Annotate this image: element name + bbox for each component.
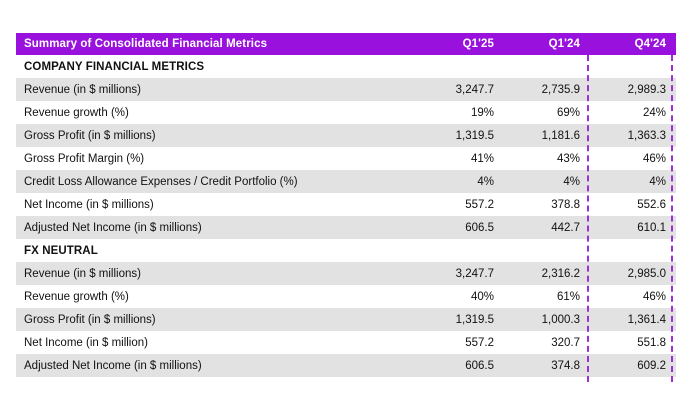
- row-label-gross-profit-in-millions: Gross Profit (in $ millions): [16, 308, 418, 331]
- row-label-revenue-growth: Revenue growth (%): [16, 285, 418, 308]
- cell-q1-24-gross-profit-in-millions: 1,181.6: [504, 124, 590, 147]
- cell-q1-24-revenue-in-millions: 2,316.2: [504, 262, 590, 285]
- column-header-q4-24: Q4'24: [590, 33, 676, 55]
- row-label-net-income-in-million: Net Income (in $ million): [16, 331, 418, 354]
- table-row: Adjusted Net Income (in $ millions)606.5…: [16, 216, 676, 239]
- section-title-fx-neutral: FX NEUTRAL: [16, 239, 676, 262]
- cell-q4-24-revenue-in-millions: 2,985.0: [590, 262, 676, 285]
- cell-q4-24-net-income-in-millions: 552.6: [590, 193, 676, 216]
- cell-q4-24-adjusted-net-income-in-millions: 610.1: [590, 216, 676, 239]
- table-header: Summary of Consolidated Financial Metric…: [16, 33, 676, 55]
- financial-metrics-table-container: Summary of Consolidated Financial Metric…: [16, 33, 676, 377]
- cell-q1-25-net-income-in-millions: 557.2: [418, 193, 504, 216]
- table-row: Gross Profit Margin (%)41%43%46%: [16, 147, 676, 170]
- table-row: Net Income (in $ million)557.2320.7551.8: [16, 331, 676, 354]
- row-label-adjusted-net-income-in-millions: Adjusted Net Income (in $ millions): [16, 216, 418, 239]
- cell-q4-24-gross-profit-in-millions: 1,361.4: [590, 308, 676, 331]
- row-label-gross-profit-in-millions: Gross Profit (in $ millions): [16, 124, 418, 147]
- cell-q1-25-gross-profit-in-millions: 1,319.5: [418, 308, 504, 331]
- table-row: Adjusted Net Income (in $ millions)606.5…: [16, 354, 676, 377]
- table-row: Net Income (in $ millions)557.2378.8552.…: [16, 193, 676, 216]
- cell-q1-25-revenue-growth: 40%: [418, 285, 504, 308]
- cell-q1-24-gross-profit-margin: 43%: [504, 147, 590, 170]
- table-title: Summary of Consolidated Financial Metric…: [16, 33, 418, 55]
- cell-q1-25-revenue-in-millions: 3,247.7: [418, 262, 504, 285]
- table-body: COMPANY FINANCIAL METRICSRevenue (in $ m…: [16, 55, 676, 377]
- row-label-credit-loss-allowance-expenses-credit-portfolio: Credit Loss Allowance Expenses / Credit …: [16, 170, 418, 193]
- table-row: Revenue growth (%)40%61%46%: [16, 285, 676, 308]
- cell-q1-25-revenue-growth: 19%: [418, 101, 504, 124]
- cell-q4-24-gross-profit-margin: 46%: [590, 147, 676, 170]
- section-header-row: FX NEUTRAL: [16, 239, 676, 262]
- cell-q4-24-gross-profit-in-millions: 1,363.3: [590, 124, 676, 147]
- cell-q4-24-credit-loss-allowance-expenses-credit-portfolio: 4%: [590, 170, 676, 193]
- cell-q1-24-adjusted-net-income-in-millions: 442.7: [504, 216, 590, 239]
- cell-q4-24-adjusted-net-income-in-millions: 609.2: [590, 354, 676, 377]
- cell-q1-25-gross-profit-margin: 41%: [418, 147, 504, 170]
- column-header-q1-25: Q1'25: [418, 33, 504, 55]
- cell-q4-24-net-income-in-million: 551.8: [590, 331, 676, 354]
- cell-q1-25-adjusted-net-income-in-millions: 606.5: [418, 354, 504, 377]
- cell-q4-24-revenue-in-millions: 2,989.3: [590, 78, 676, 101]
- cell-q4-24-revenue-growth: 46%: [590, 285, 676, 308]
- table-row: Revenue (in $ millions)3,247.72,316.22,9…: [16, 262, 676, 285]
- row-label-revenue-in-millions: Revenue (in $ millions): [16, 262, 418, 285]
- table-row: Credit Loss Allowance Expenses / Credit …: [16, 170, 676, 193]
- row-label-gross-profit-margin: Gross Profit Margin (%): [16, 147, 418, 170]
- cell-q1-24-revenue-growth: 61%: [504, 285, 590, 308]
- row-label-adjusted-net-income-in-millions: Adjusted Net Income (in $ millions): [16, 354, 418, 377]
- cell-q1-25-adjusted-net-income-in-millions: 606.5: [418, 216, 504, 239]
- cell-q1-24-gross-profit-in-millions: 1,000.3: [504, 308, 590, 331]
- section-title-company-financial-metrics: COMPANY FINANCIAL METRICS: [16, 55, 676, 78]
- cell-q1-25-revenue-in-millions: 3,247.7: [418, 78, 504, 101]
- cell-q1-24-revenue-growth: 69%: [504, 101, 590, 124]
- cell-q1-25-gross-profit-in-millions: 1,319.5: [418, 124, 504, 147]
- row-label-net-income-in-millions: Net Income (in $ millions): [16, 193, 418, 216]
- highlight-bracket-left: [587, 55, 589, 382]
- cell-q1-24-credit-loss-allowance-expenses-credit-portfolio: 4%: [504, 170, 590, 193]
- cell-q1-25-net-income-in-million: 557.2: [418, 331, 504, 354]
- row-label-revenue-in-millions: Revenue (in $ millions): [16, 78, 418, 101]
- cell-q1-24-revenue-in-millions: 2,735.9: [504, 78, 590, 101]
- row-label-revenue-growth: Revenue growth (%): [16, 101, 418, 124]
- table-row: Gross Profit (in $ millions)1,319.51,181…: [16, 124, 676, 147]
- highlight-bracket-right: [671, 55, 673, 382]
- table-row: Revenue (in $ millions)3,247.72,735.92,9…: [16, 78, 676, 101]
- cell-q1-25-credit-loss-allowance-expenses-credit-portfolio: 4%: [418, 170, 504, 193]
- table-row: Revenue growth (%)19%69%24%: [16, 101, 676, 124]
- financial-metrics-table: Summary of Consolidated Financial Metric…: [16, 33, 676, 377]
- cell-q1-24-adjusted-net-income-in-millions: 374.8: [504, 354, 590, 377]
- table-row: Gross Profit (in $ millions)1,319.51,000…: [16, 308, 676, 331]
- column-header-q1-24: Q1'24: [504, 33, 590, 55]
- cell-q1-24-net-income-in-million: 320.7: [504, 331, 590, 354]
- table-header-row: Summary of Consolidated Financial Metric…: [16, 33, 676, 55]
- cell-q4-24-revenue-growth: 24%: [590, 101, 676, 124]
- cell-q1-24-net-income-in-millions: 378.8: [504, 193, 590, 216]
- section-header-row: COMPANY FINANCIAL METRICS: [16, 55, 676, 78]
